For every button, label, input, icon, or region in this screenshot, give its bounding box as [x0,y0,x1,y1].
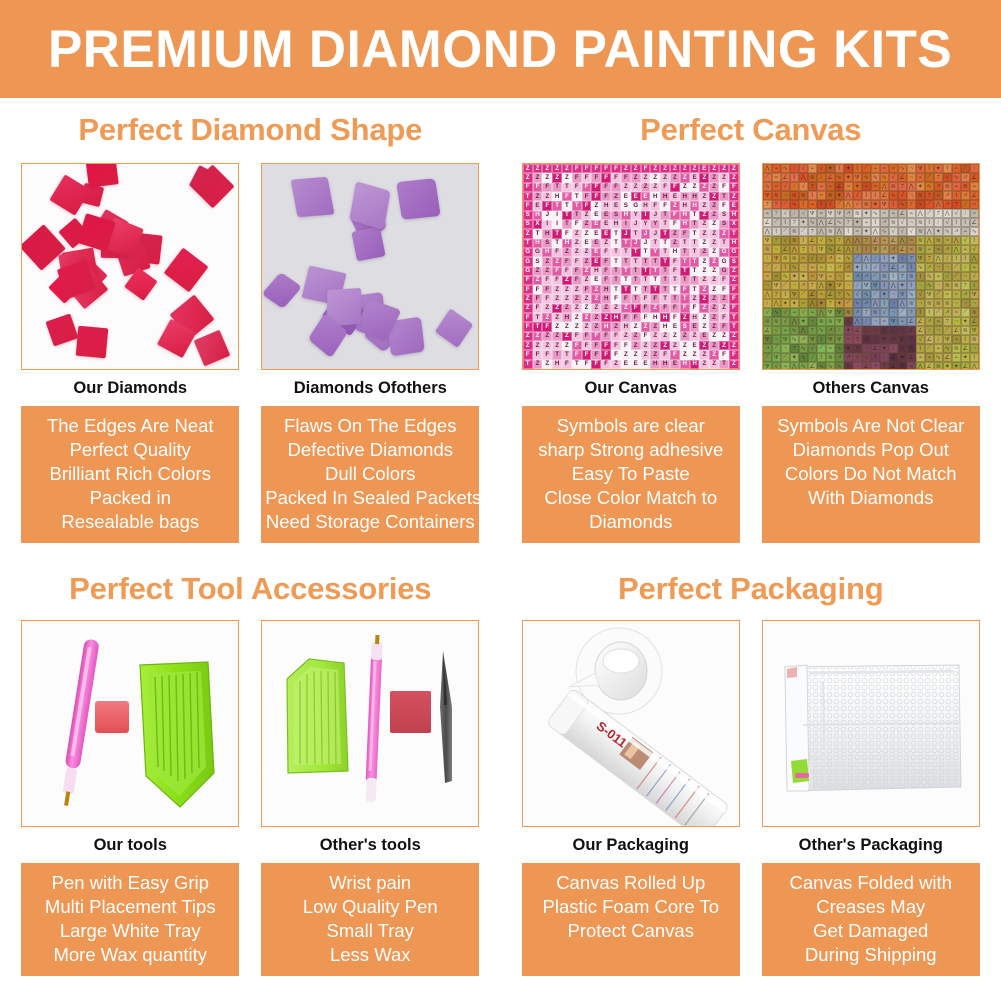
canvas-symbol-cell: Ψ [772,353,781,362]
canvas-symbol-cell: Z [562,322,572,331]
canvas-symbol-cell: F [601,192,611,201]
canvas-symbol-cell: Ψ [772,254,781,263]
feature-line: Diamonds [526,510,736,534]
card-caption: Other's tools [261,827,479,855]
canvas-symbol-cell: ✦ [961,353,970,362]
canvas-symbol-cell: E [631,360,641,369]
canvas-symbol-cell: F [641,304,651,313]
canvas-symbol-cell: Z [690,183,700,192]
card-caption: Diamonds Ofothers [261,370,479,398]
canvas-symbol-cell: ⋀ [844,236,853,245]
card-our-packaging: S-011 [522,620,740,855]
canvas-symbol-cell: √ [880,308,889,317]
photo-other-packaging [762,620,980,827]
canvas-symbol-cell: ⌇ [862,191,871,200]
canvas-symbol-cell: T [680,267,690,276]
canvas-symbol-cell: T [611,276,621,285]
canvas-symbol-cell: Z [670,229,680,238]
feature-line: Pen with Easy Grip [25,871,235,895]
canvas-symbol-cell: ∠ [916,317,925,326]
canvas-symbol-cell: Ψ [916,254,925,263]
canvas-symbol-cell: ≋ [952,281,961,290]
canvas-symbol-cell: H [611,313,621,322]
canvas-symbol-cell: Z [582,248,592,257]
canvas-symbol-cell: Z [572,294,582,303]
canvas-symbol-cell: ∿ [772,308,781,317]
canvas-symbol-cell: ⟋ [943,326,952,335]
canvas-symbol-cell: Ψ [871,281,880,290]
canvas-symbol-cell: T [690,257,700,266]
canvas-symbol-cell: F [523,350,533,359]
canvas-symbol-cell: F [631,313,641,322]
feature-line: Need Storage Containers [265,510,475,534]
canvas-symbol-cell: S [542,239,552,248]
card-others-canvas: ⋀⌁∿/√⌁√✦⌇✦⌇⟋⌁≈≈∿¬Ψ⌇✦⌇≈⟋/⟋≈∠⌇⋀≋/∠∿✦Ψ∿∿∿√∠… [762,163,980,398]
canvas-symbol-cell: 7 [907,308,916,317]
canvas-symbol-cell: F [670,211,680,220]
canvas-symbol-cell: F [542,276,552,285]
canvas-symbol-cell: √ [943,272,952,281]
canvas-symbol-cell: ⌇ [961,218,970,227]
canvas-symbol-cell: G [523,248,533,257]
canvas-symbol-cell: F [591,360,601,369]
photo-other-tools [261,620,479,827]
canvas-symbol-cell: F [729,183,739,192]
canvas-symbol-cell: Z [699,257,709,266]
canvas-symbol-cell: F [533,183,543,192]
canvas-symbol-cell: ⌇ [799,236,808,245]
canvas-symbol-cell: H [562,313,572,322]
canvas-symbol-cell: Z [552,322,562,331]
canvas-symbol-cell: ✦ [835,299,844,308]
canvas-symbol-cell: ∠ [871,344,880,353]
canvas-symbol-cell: ⌇ [781,263,790,272]
canvas-symbol-cell: E [641,360,651,369]
canvas-symbol-cell: Z [591,313,601,322]
canvas-symbol-cell: √ [808,254,817,263]
canvas-symbol-cell: T [729,313,739,322]
canvas-symbol-cell: F [572,183,582,192]
canvas-symbol-cell: E [690,322,700,331]
canvas-symbol-cell: ∠ [880,191,889,200]
canvas-symbol-cell: Z [611,360,621,369]
canvas-symbol-cell: T [729,229,739,238]
canvas-symbol-cell: T [660,248,670,257]
canvas-symbol-cell: ⌇ [808,191,817,200]
canvas-symbol-cell: Z [660,164,670,173]
section-canvas: Perfect Canvas ZZZZZFFFFFZZFZZZZZEZZZZZZ… [501,112,1001,543]
feature-line: Plastic Foam Core To [526,895,736,919]
canvas-symbol-cell: Z [709,313,719,322]
canvas-symbol-cell: Z [611,322,621,331]
canvas-symbol-cell: ≈ [952,290,961,299]
canvas-symbol-cell: Z [562,294,572,303]
canvas-symbol-cell: Z [552,341,562,350]
textbox-others-canvas: Symbols Are Not Clear Diamonds Pop Out C… [762,406,980,543]
canvas-symbol-cell: Z [533,341,543,350]
canvas-symbol-cell: ⌇ [970,353,979,362]
canvas-symbol-cell: H [601,294,611,303]
canvas-symbol-cell: ≋ [934,362,943,370]
canvas-symbol-cell: Z [611,192,621,201]
canvas-symbol-cell: Ψ [817,272,826,281]
canvas-symbol-cell: ⋀ [952,245,961,254]
canvas-symbol-cell: ⩘ [943,245,952,254]
canvas-symbol-cell: H [660,313,670,322]
canvas-symbol-cell: Z [582,267,592,276]
photo-our-canvas: ZZZZZFFFFFZZFZZZZZEZZZZZZZZFFFFFFZZZZZZE… [522,163,740,370]
canvas-symbol-cell: E [591,276,601,285]
canvas-symbol-cell: T [631,229,641,238]
canvas-symbol-cell: ⋀ [790,317,799,326]
canvas-symbol-cell: Z [542,257,552,266]
canvas-symbol-cell: T [523,192,533,201]
canvas-symbol-cell: Z [690,164,700,173]
canvas-symbol-cell: Z [709,248,719,257]
canvas-symbol-cell: ∿ [799,353,808,362]
canvas-symbol-cell: E [699,164,709,173]
canvas-symbol-cell: ¬ [871,317,880,326]
canvas-symbol-cell: F [601,332,611,341]
canvas-symbol-cell: ∠ [826,218,835,227]
canvas-symbol-cell: F [562,192,572,201]
card-caption: Our Diamonds [21,370,239,398]
canvas-symbol-cell: T [611,257,621,266]
canvas-symbol-cell: T [680,257,690,266]
canvas-symbol-cell: Z [719,229,729,238]
canvas-symbol-cell: ∿ [808,218,817,227]
canvas-symbol-cell: ✦ [799,218,808,227]
wax-square-icon [390,691,431,733]
canvas-symbol-cell: / [943,254,952,263]
canvas-symbol-cell: ∿ [880,173,889,182]
canvas-symbol-cell: ≋ [790,191,799,200]
canvas-symbol-cell: ⟋ [799,227,808,236]
canvas-symbol-cell: T [690,211,700,220]
canvas-symbol-cell: √ [970,272,979,281]
canvas-symbol-cell: Z [542,332,552,341]
canvas-symbol-cell: Z [709,350,719,359]
canvas-symbol-cell: ≋ [880,272,889,281]
canvas-symbol-cell: Ψ [763,191,772,200]
canvas-symbol-cell: F [582,192,592,201]
canvas-symbol-cell: ⌇ [862,245,871,254]
canvas-symbol-cell: F [572,276,582,285]
canvas-symbol-cell: T [660,211,670,220]
canvas-symbol-cell: ⟋ [862,164,871,173]
canvas-symbol-cell: ⋀ [889,281,898,290]
canvas-symbol-cell: Z [533,267,543,276]
canvas-symbol-cell: ⟋ [799,290,808,299]
canvas-symbol-cell: Z [699,267,709,276]
canvas-symbol-cell: Z [582,276,592,285]
canvas-symbol-cell: ✦ [862,227,871,236]
canvas-symbol-cell: ∿ [862,290,871,299]
canvas-symbol-cell: ⋀ [916,209,925,218]
canvas-symbol-cell: Z [709,267,719,276]
canvas-symbol-cell: T [572,360,582,369]
canvas-symbol-cell: √ [853,353,862,362]
canvas-symbol-cell: ≋ [889,218,898,227]
canvas-symbol-cell: ⟋ [781,227,790,236]
canvas-symbol-cell: 7 [826,299,835,308]
canvas-symbol-cell: T [680,248,690,257]
canvas-symbol-cell: ∠ [889,236,898,245]
canvas-symbol-cell: F [601,164,611,173]
canvas-symbol-cell: ⌇ [871,191,880,200]
canvas-symbol-cell: E [690,173,700,182]
canvas-symbol-cell: ∠ [961,344,970,353]
feature-line: Packed in [25,486,235,510]
canvas-symbol-cell: T [670,294,680,303]
canvas-symbol-cell: ⌁ [925,245,934,254]
canvas-symbol-cell: ⌇ [952,191,961,200]
canvas-symbol-cell: ⋀ [817,227,826,236]
canvas-symbol-cell: ⋀ [790,362,799,370]
canvas-symbol-cell: ⩘ [844,353,853,362]
canvas-symbol-cell: ¬ [853,362,862,370]
canvas-symbol-cell: F [552,276,562,285]
canvas-symbol-cell: Z [680,164,690,173]
canvas-symbol-cell: / [763,254,772,263]
canvas-symbol-cell: Z [729,360,739,369]
canvas-symbol-cell: T [562,220,572,229]
canvas-symbol-cell: T [533,229,543,238]
canvas-symbol-cell: Z [670,332,680,341]
canvas-symbol-cell: ✦ [934,164,943,173]
canvas-symbol-cell: Z [729,164,739,173]
canvas-symbol-cell: ∠ [826,173,835,182]
canvas-symbol-cell: H [690,360,700,369]
canvas-symbol-cell: F [542,294,552,303]
canvas-symbol-cell: √ [898,254,907,263]
canvas-symbol-cell: ¬ [952,317,961,326]
tray-peek-icon [791,759,809,783]
feature-line: Large White Tray [25,919,235,943]
canvas-symbol-cell: 7 [907,335,916,344]
canvas-symbol-cell: Z [562,276,572,285]
canvas-symbol-cell: ⌁ [934,272,943,281]
canvas-symbol-cell: F [729,294,739,303]
canvas-symbol-cell: ∿ [898,200,907,209]
canvas-symbol-cell: Z [690,294,700,303]
canvas-symbol-cell: F [591,332,601,341]
canvas-symbol-cell: S [523,220,533,229]
canvas-symbol-cell: Z [552,164,562,173]
canvas-symbol-cell: ⋀ [898,236,907,245]
canvas-symbol-cell: F [572,267,582,276]
canvas-symbol-cell: F [719,322,729,331]
photo-our-diamonds [21,163,239,370]
canvas-symbol-cell: Z [709,276,719,285]
canvas-symbol-cell: ¬ [916,299,925,308]
feature-line: More Wax quantity [25,943,235,967]
canvas-symbol-cell: ¬ [907,164,916,173]
canvas-symbol-cell: ∿ [916,263,925,272]
canvas-symbol-cell: ∿ [871,209,880,218]
canvas-symbol-cell: T [690,285,700,294]
canvas-symbol-cell: F [542,201,552,210]
canvas-symbol-cell: ≋ [790,236,799,245]
canvas-symbol-cell: √ [772,362,781,370]
canvas-symbol-cell: Z [562,164,572,173]
canvas-symbol-cell: ≈ [871,182,880,191]
canvas-symbol-cell: √ [781,308,790,317]
canvas-symbol-cell: H [680,220,690,229]
canvas-symbol-cell: Z [523,229,533,238]
canvas-symbol-cell: ≈ [943,290,952,299]
card-other-packaging: Other's Packaging [762,620,980,855]
canvas-symbol-cell: Z [680,183,690,192]
canvas-symbol-cell: ≋ [790,227,799,236]
canvas-symbol-cell: ⩘ [799,281,808,290]
canvas-symbol-cell: Ψ [763,335,772,344]
canvas-symbol-cell: F [542,183,552,192]
canvas-symbol-cell: ✦ [871,200,880,209]
canvas-symbol-cell: T [572,192,582,201]
canvas-symbol-cell: ⌁ [889,209,898,218]
canvas-symbol-cell: ⟋ [961,308,970,317]
canvas-symbol-cell: ≈ [880,164,889,173]
canvas-symbol-cell: F [601,267,611,276]
canvas-symbol-cell: J [631,220,641,229]
canvas-symbol-cell: H [533,239,543,248]
canvas-symbol-cell: T [631,267,641,276]
canvas-symbol-cell: ⩘ [853,272,862,281]
canvas-symbol-cell: 7 [808,281,817,290]
canvas-symbol-cell: / [961,209,970,218]
canvas-symbol-cell: ⟋ [772,218,781,227]
pen-icon [365,635,383,802]
canvas-symbol-cell: 7 [853,344,862,353]
card-our-diamonds: Our Diamonds [21,163,239,398]
canvas-symbol-cell: ✦ [898,281,907,290]
canvas-symbol-cell: 7 [907,254,916,263]
canvas-symbol-cell: ∿ [889,191,898,200]
canvas-symbol-cell: √ [916,335,925,344]
canvas-symbol-cell: Z [680,341,690,350]
canvas-symbol-cell: Z [699,201,709,210]
canvas-symbol-cell: ⋀ [763,164,772,173]
canvas-symbol-cell: ⌇ [952,254,961,263]
canvas-symbol-cell: ⌁ [916,200,925,209]
other-packaging-art [763,621,980,827]
canvas-symbol-cell: Ψ [925,290,934,299]
canvas-symbol-cell: ⩘ [799,335,808,344]
canvas-symbol-cell: T [660,285,670,294]
canvas-symbol-cell: Z [660,332,670,341]
canvas-symbol-cell: ⋀ [970,362,979,370]
canvas-symbol-cell: H [621,322,631,331]
canvas-symbol-cell: ¬ [871,326,880,335]
feature-line: Get Damaged [766,919,976,943]
canvas-symbol-cell: H [660,192,670,201]
canvas-symbol-cell: ⋀ [763,290,772,299]
canvas-symbol-cell: F [680,285,690,294]
canvas-symbol-cell: 7 [808,182,817,191]
canvas-symbol-cell: ✦ [934,227,943,236]
canvas-symbol-cell: ≋ [790,254,799,263]
canvas-symbol-cell: Ψ [781,335,790,344]
canvas-symbol-cell: F [523,313,533,322]
canvas-symbol-cell: F [729,304,739,313]
canvas-symbol-cell: Ψ [835,308,844,317]
canvas-symbol-cell: Z [591,201,601,210]
canvas-symbol-cell: T [523,239,533,248]
canvas-symbol-cell: Ψ [916,164,925,173]
canvas-symbol-cell: Z [641,350,651,359]
canvas-symbol-cell: ✦ [790,353,799,362]
canvas-symbol-cell: F [533,285,543,294]
canvas-symbol-cell: T [533,322,543,331]
canvas-symbol-cell: F [572,220,582,229]
canvas-symbol-cell: Z [552,332,562,341]
canvas-symbol-cell: √ [871,263,880,272]
feature-line: sharp Strong adhesive [526,438,736,462]
canvas-symbol-cell: T [552,201,562,210]
canvas-symbol-cell: H [729,239,739,248]
canvas-symbol-cell: H [729,211,739,220]
canvas-symbol-cell: T [650,239,660,248]
canvas-symbol-cell: √ [817,236,826,245]
canvas-symbol-cell: ⌁ [916,353,925,362]
canvas-symbol-cell: Z [542,164,552,173]
canvas-symbol-cell: ∠ [763,218,772,227]
canvas-symbol-cell: Z [709,192,719,201]
canvas-symbol-cell: ∠ [835,245,844,254]
canvas-symbol-cell: ⌇ [790,173,799,182]
canvas-symbol-cell: / [790,164,799,173]
diamond-shape [290,176,334,216]
canvas-symbol-cell: ⌇ [880,281,889,290]
canvas-symbol-cell: H [680,192,690,201]
canvas-symbol-cell: 7 [763,200,772,209]
canvas-symbol-cell: ⋀ [844,191,853,200]
canvas-symbol-cell: S [621,201,631,210]
canvas-symbol-cell: ≋ [943,281,952,290]
canvas-symbol-cell: F [552,248,562,257]
canvas-symbol-cell: √ [943,218,952,227]
canvas-symbol-cell: ∠ [889,353,898,362]
canvas-symbol-cell: F [582,164,592,173]
canvas-symbol-cell: G [631,201,641,210]
canvas-symbol-cell: ⌁ [934,245,943,254]
canvas-symbol-cell: T [650,276,660,285]
canvas-symbol-cell: E [591,257,601,266]
canvas-symbol-cell: Z [699,183,709,192]
canvas-symbol-cell: F [670,257,680,266]
canvas-symbol-cell: F [611,332,621,341]
canvas-symbol-cell: ∠ [808,236,817,245]
canvas-symbol-cell: ⌁ [808,263,817,272]
canvas-symbol-cell: ∿ [790,263,799,272]
canvas-symbol-cell: ¬ [907,191,916,200]
canvas-symbol-cell: ⟋ [871,290,880,299]
canvas-symbol-cell: T [552,350,562,359]
canvas-symbol-cell: S [533,257,543,266]
canvas-symbol-cell: Z [709,164,719,173]
canvas-symbol-cell: ⌇ [889,200,898,209]
canvas-symbol-cell: ⩘ [952,227,961,236]
canvas-symbol-cell: Z [533,332,543,341]
canvas-symbol-cell: T [719,360,729,369]
canvas-symbol-cell: Z [699,276,709,285]
canvas-symbol-cell: ≋ [763,245,772,254]
canvas-symbol-cell: E [582,239,592,248]
canvas-symbol-cell: ¬ [772,335,781,344]
canvas-symbol-cell: F [533,294,543,303]
feature-line: Perfect Quality [25,438,235,462]
